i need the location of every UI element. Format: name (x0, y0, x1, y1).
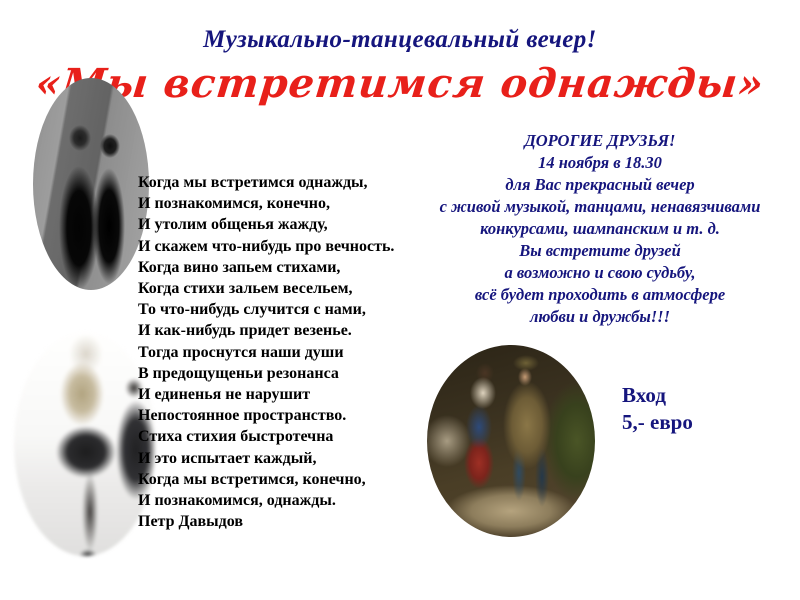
poem-line: И познакомимся, однажды. (138, 490, 438, 511)
poem-line: Непостоянное пространство. (138, 405, 438, 426)
invitation-line: всё будет проходить в атмосфере (400, 284, 800, 306)
poem-line: И утолим общенья жажду, (138, 214, 438, 235)
poem-line: И как-нибудь придет везенье. (138, 320, 438, 341)
poem-line: И это испытает каждый, (138, 448, 438, 469)
poem-block: Когда мы встретимся однажды, И познакоми… (138, 172, 438, 532)
poem-line: Когда вино запьем стихами, (138, 257, 438, 278)
invitation-block: ДОРОГИЕ ДРУЗЬЯ! 14 ноября в 18.30 для Ва… (400, 130, 800, 328)
entrance-label: Вход (622, 382, 693, 409)
invitation-line: с живой музыкой, танцами, ненавязчивами (400, 196, 800, 218)
poem-line: Стиха стихия быстротечна (138, 426, 438, 447)
entrance-price-block: Вход 5,- евро (622, 382, 693, 436)
poem-line: И единенья не нарушит (138, 384, 438, 405)
event-poster: Музыкально-танцевальный вечер! «Мы встре… (0, 0, 800, 600)
invitation-line: для Вас прекрасный вечер (400, 174, 800, 196)
poem-line: И скажем что-нибудь про вечность. (138, 236, 438, 257)
invitation-line: 14 ноября в 18.30 (400, 152, 800, 174)
poem-line: В предощущеньи резонанса (138, 363, 438, 384)
invitation-line: любви и дружбы!!! (400, 306, 800, 328)
poem-line: Тогда проснутся наши души (138, 342, 438, 363)
invitation-line: конкурсами, шампанским и т. д. (400, 218, 800, 240)
invitation-line: ДОРОГИЕ ДРУЗЬЯ! (400, 130, 800, 152)
poem-line: Когда мы встретимся, конечно, (138, 469, 438, 490)
poem-line: Когда стихи зальем весельем, (138, 278, 438, 299)
poster-headline: Музыкально-танцевальный вечер! (0, 26, 800, 54)
photo-couple-standing (33, 78, 149, 290)
poem-author: Петр Давыдов (138, 511, 438, 532)
entrance-price: 5,- евро (622, 409, 693, 436)
poem-line: То что-нибудь случится с нами, (138, 299, 438, 320)
painting-rustic-couple (427, 345, 595, 537)
invitation-line: Вы встретите друзей (400, 240, 800, 262)
poem-line: И познакомимся, конечно, (138, 193, 438, 214)
invitation-line: а возможно и свою судьбу, (400, 262, 800, 284)
photo-dancing-couple (14, 332, 156, 556)
poem-line: Когда мы встретимся однажды, (138, 172, 438, 193)
